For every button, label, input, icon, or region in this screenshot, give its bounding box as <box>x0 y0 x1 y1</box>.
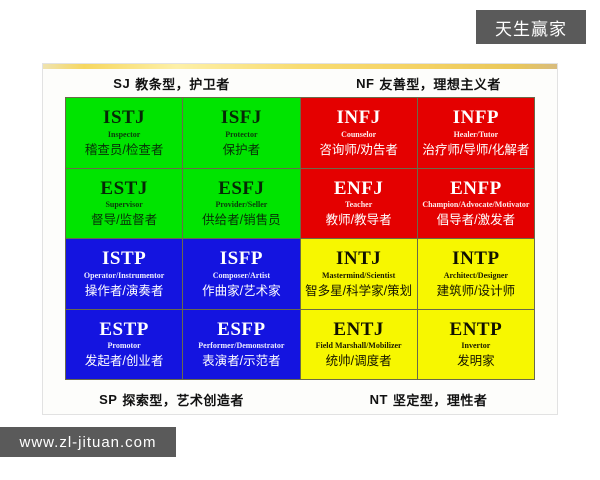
type-chinese-name: 教师/教导者 <box>326 214 392 228</box>
type-chinese-name: 咨询师/劝告者 <box>319 144 397 158</box>
type-cell-infp: INFP Healer/Tutor 治疗师/导师/化解者 <box>418 98 534 168</box>
caption-sj: SJ 教条型，护卫者 <box>43 72 300 94</box>
caption-nt: NT 坚定型，理性者 <box>300 388 557 410</box>
type-code: ENTJ <box>333 320 384 340</box>
type-english-name: Invertor <box>461 342 490 351</box>
watermark-top-right-label: 天生赢家 <box>495 15 567 40</box>
type-cell-intj: INTJ Mastermind/Scientist 智多星/科学家/策划 <box>301 239 417 309</box>
type-code: ENFJ <box>334 179 384 199</box>
type-cell-istj: ISTJ Inspector 稽查员/检查者 <box>66 98 182 168</box>
type-code: ISTJ <box>103 108 145 128</box>
type-code: ISTP <box>102 249 146 269</box>
type-code: ISFJ <box>221 108 262 128</box>
type-english-name: Mastermind/Scientist <box>322 272 395 281</box>
type-chinese-name: 供给者/销售员 <box>202 214 280 228</box>
type-cell-estp: ESTP Promotor 发起者/创业者 <box>66 310 182 380</box>
caption-sj-code: SJ <box>113 76 130 91</box>
caption-nt-code: NT <box>370 392 388 407</box>
quadrant-captions-top: SJ 教条型，护卫者 NF 友善型，理想主义者 <box>43 72 557 94</box>
type-cell-isfp: ISFP Composer/Artist 作曲家/艺术家 <box>183 239 299 309</box>
type-chinese-name: 作曲家/艺术家 <box>202 285 280 299</box>
type-chinese-name: 统帅/调度者 <box>326 355 392 369</box>
type-chinese-name: 表演者/示范者 <box>202 355 280 369</box>
type-english-name: Provider/Seller <box>215 201 267 210</box>
type-cell-enfp: ENFP Champion/Advocate/Motivator 倡导者/激发者 <box>418 169 534 239</box>
type-chinese-name: 智多星/科学家/策划 <box>305 285 412 299</box>
type-code: ESTP <box>99 320 149 340</box>
type-code: ENFP <box>450 179 502 199</box>
type-english-name: Champion/Advocate/Motivator <box>422 201 529 210</box>
type-cell-enfj: ENFJ Teacher 教师/教导者 <box>301 169 417 239</box>
type-chinese-name: 督导/监督者 <box>91 214 157 228</box>
caption-nt-label: 坚定型，理性者 <box>393 390 488 409</box>
type-chinese-name: 治疗师/导师/化解者 <box>422 144 529 158</box>
type-english-name: Operator/Instrumentor <box>84 272 164 281</box>
caption-nf: NF 友善型，理想主义者 <box>300 72 557 94</box>
type-code: ESFP <box>217 320 265 340</box>
caption-sp-label: 探索型，艺术创造者 <box>122 390 244 409</box>
type-english-name: Promotor <box>108 342 141 351</box>
type-code: ENTP <box>450 320 503 340</box>
type-chinese-name: 稽查员/检查者 <box>85 144 163 158</box>
caption-sp-code: SP <box>99 392 117 407</box>
type-code: INFJ <box>337 108 381 128</box>
type-chinese-name: 发起者/创业者 <box>85 355 163 369</box>
type-chinese-name: 保护者 <box>223 144 261 158</box>
type-chinese-name: 倡导者/激发者 <box>437 214 515 228</box>
type-english-name: Performer/Demonstrator <box>198 342 284 351</box>
type-english-name: Field Marshall/Mobilizer <box>316 342 402 351</box>
type-english-name: Healer/Tutor <box>454 131 499 140</box>
type-cell-isfj: ISFJ Protector 保护者 <box>183 98 299 168</box>
type-code: INFP <box>453 108 499 128</box>
type-english-name: Protector <box>225 131 257 140</box>
mbti-chart-card: SJ 教条型，护卫者 NF 友善型，理想主义者 ISTJ Inspector 稽… <box>43 64 557 414</box>
type-english-name: Counselor <box>341 131 376 140</box>
type-english-name: Composer/Artist <box>213 272 270 281</box>
mbti-type-grid: ISTJ Inspector 稽查员/检查者 ISFJ Protector 保护… <box>65 97 535 380</box>
watermark-top-right: 天生赢家 <box>476 10 586 44</box>
watermark-bottom-left: www.zl-jituan.com <box>0 427 176 457</box>
caption-sj-label: 教条型，护卫者 <box>135 74 230 93</box>
type-cell-infj: INFJ Counselor 咨询师/劝告者 <box>301 98 417 168</box>
type-cell-esfj: ESFJ Provider/Seller 供给者/销售员 <box>183 169 299 239</box>
watermark-bottom-left-label: www.zl-jituan.com <box>19 434 156 451</box>
type-chinese-name: 操作者/演奏者 <box>85 285 163 299</box>
quadrant-captions-bottom: SP 探索型，艺术创造者 NT 坚定型，理性者 <box>43 388 557 410</box>
type-code: ISFP <box>220 249 263 269</box>
caption-nf-code: NF <box>356 76 374 91</box>
type-code: INTP <box>452 249 499 269</box>
type-cell-istp: ISTP Operator/Instrumentor 操作者/演奏者 <box>66 239 182 309</box>
type-code: ESFJ <box>218 179 264 199</box>
caption-sp: SP 探索型，艺术创造者 <box>43 388 300 410</box>
type-english-name: Supervisor <box>105 201 142 210</box>
type-cell-estj: ESTJ Supervisor 督导/监督者 <box>66 169 182 239</box>
type-chinese-name: 建筑师/设计师 <box>437 285 515 299</box>
type-english-name: Inspector <box>108 131 140 140</box>
caption-nf-label: 友善型，理想主义者 <box>379 74 501 93</box>
type-cell-entp: ENTP Invertor 发明家 <box>418 310 534 380</box>
type-english-name: Architect/Designer <box>444 272 508 281</box>
type-code: INTJ <box>336 249 381 269</box>
type-cell-intp: INTP Architect/Designer 建筑师/设计师 <box>418 239 534 309</box>
type-cell-esfp: ESFP Performer/Demonstrator 表演者/示范者 <box>183 310 299 380</box>
type-cell-entj: ENTJ Field Marshall/Mobilizer 统帅/调度者 <box>301 310 417 380</box>
gold-accent-bar <box>43 64 557 69</box>
type-english-name: Teacher <box>345 201 372 210</box>
type-chinese-name: 发明家 <box>457 355 495 369</box>
type-code: ESTJ <box>100 179 147 199</box>
